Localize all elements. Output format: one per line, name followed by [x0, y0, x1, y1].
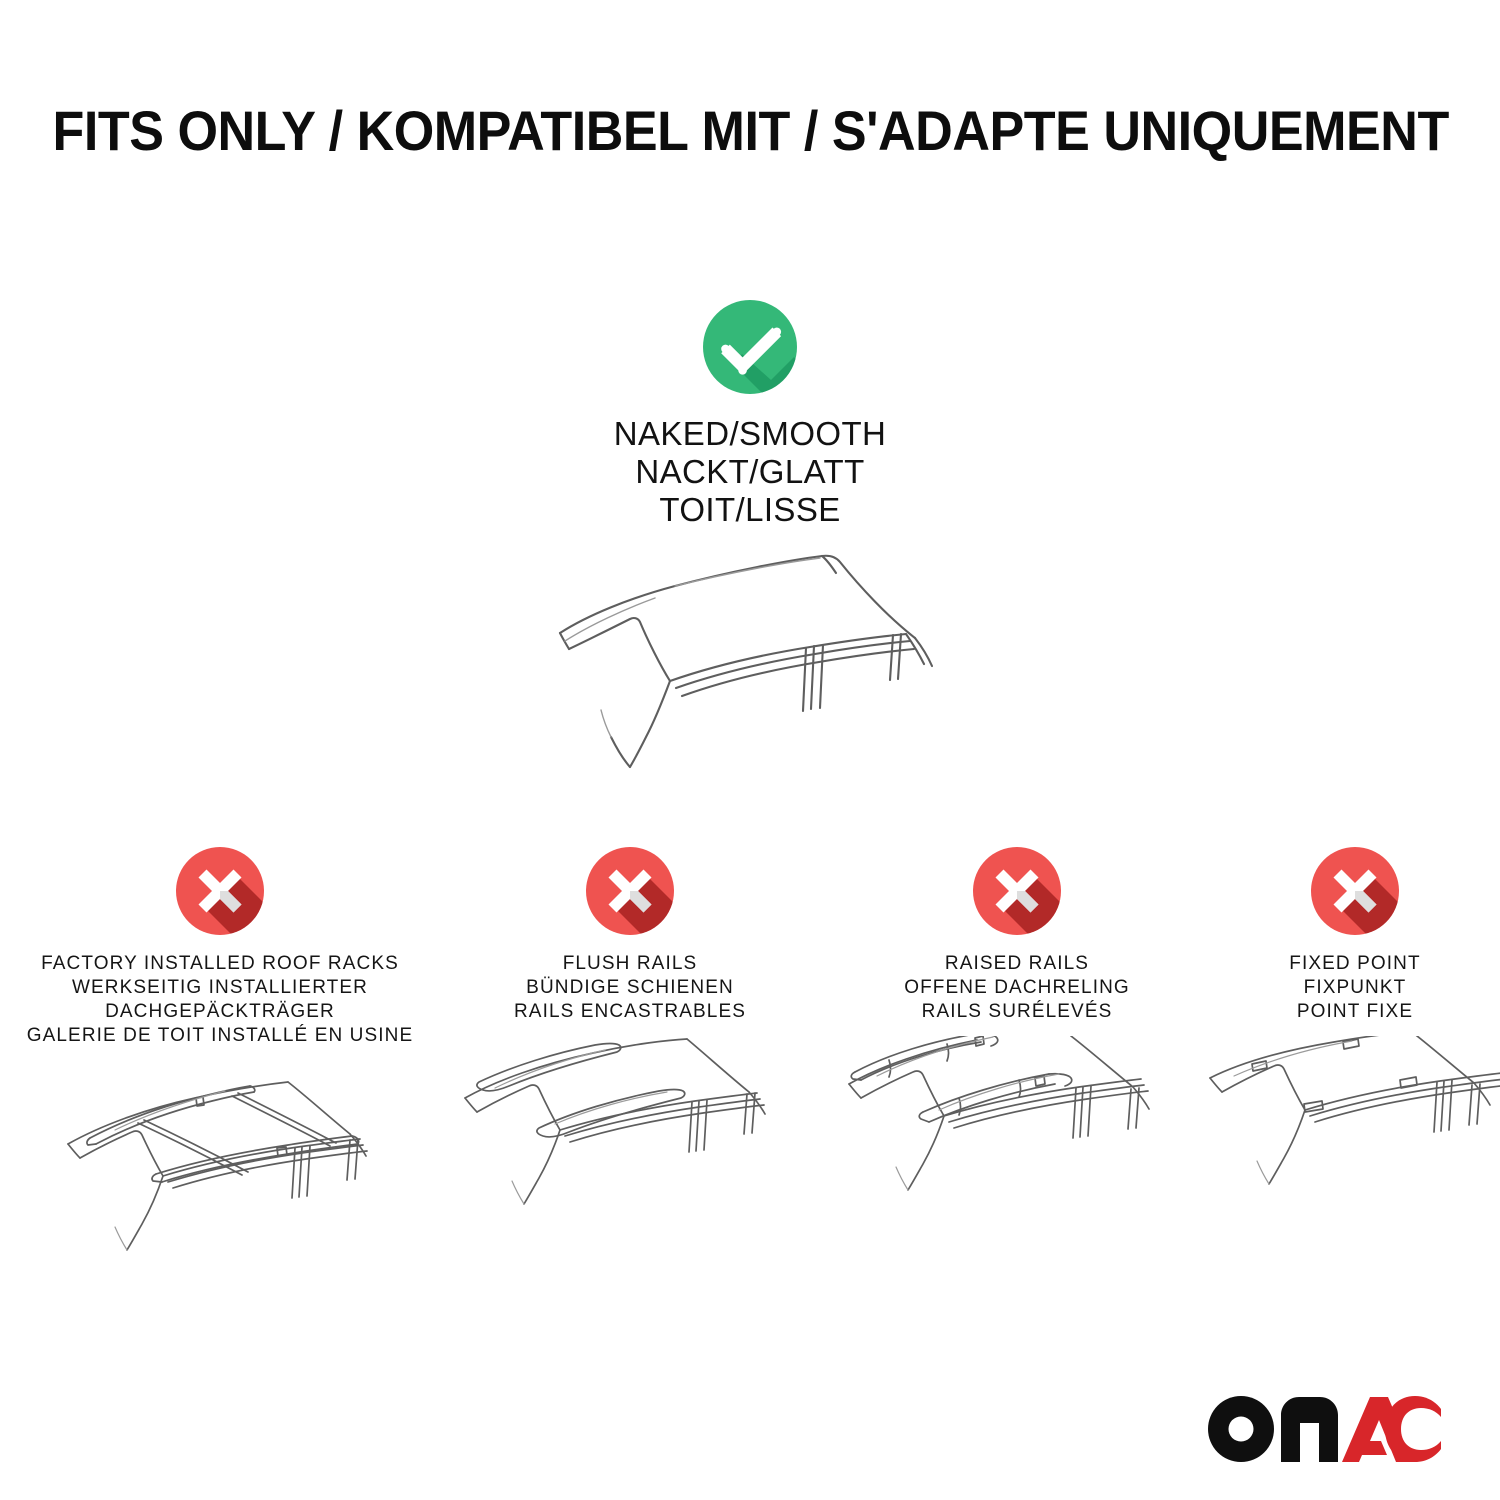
red-x-circle-icon	[971, 845, 1063, 942]
incompatible-item-flush-rails: FLUSH RAILS BÜNDIGE SCHIENEN RAILS ENCAS…	[440, 845, 820, 1251]
red-x-circle-icon	[174, 845, 266, 942]
incompatible-label-fixed-point: FIXED POINT FIXPUNKT POINT FIXE	[1289, 952, 1420, 1024]
green-check-circle-icon	[701, 298, 799, 401]
compatible-roof-type-label: NAKED/SMOOTH NACKT/GLATT TOIT/LISSE	[614, 415, 887, 529]
incompatible-label-factory-racks: FACTORY INSTALLED ROOF RACKS WERKSEITIG …	[27, 952, 414, 1048]
car-roof-flush-rails-illustration	[435, 1036, 825, 1251]
incompatible-roof-types-row: FACTORY INSTALLED ROOF RACKS WERKSEITIG …	[0, 845, 1500, 1275]
incompatible-item-fixed-point: FIXED POINT FIXPUNKT POINT FIXE	[1210, 845, 1500, 1251]
incompatible-item-factory-racks: FACTORY INSTALLED ROOF RACKS WERKSEITIG …	[10, 845, 430, 1275]
page-title-text: FITS ONLY / KOMPATIBEL MIT / S'ADAPTE UN…	[53, 103, 1448, 159]
page-title: FITS ONLY / KOMPATIBEL MIT / S'ADAPTE UN…	[0, 103, 1500, 159]
compatible-roof-type-block: NAKED/SMOOTH NACKT/GLATT TOIT/LISSE	[0, 298, 1500, 529]
car-roof-factory-racks-illustration	[20, 1060, 420, 1275]
incompatible-label-raised-rails: RAISED RAILS OFFENE DACHRELING RAILS SUR…	[904, 952, 1130, 1024]
red-x-circle-icon	[584, 845, 676, 942]
incompatible-label-flush-rails: FLUSH RAILS BÜNDIGE SCHIENEN RAILS ENCAS…	[514, 952, 746, 1024]
car-roof-fixed-point-illustration	[1200, 1036, 1500, 1251]
car-roof-raised-rails-illustration	[827, 1036, 1207, 1251]
car-roof-naked-smooth-illustration	[470, 515, 1030, 805]
red-x-circle-icon	[1309, 845, 1401, 942]
omac-logo	[1207, 1393, 1442, 1465]
incompatible-item-raised-rails: RAISED RAILS OFFENE DACHRELING RAILS SUR…	[832, 845, 1202, 1251]
